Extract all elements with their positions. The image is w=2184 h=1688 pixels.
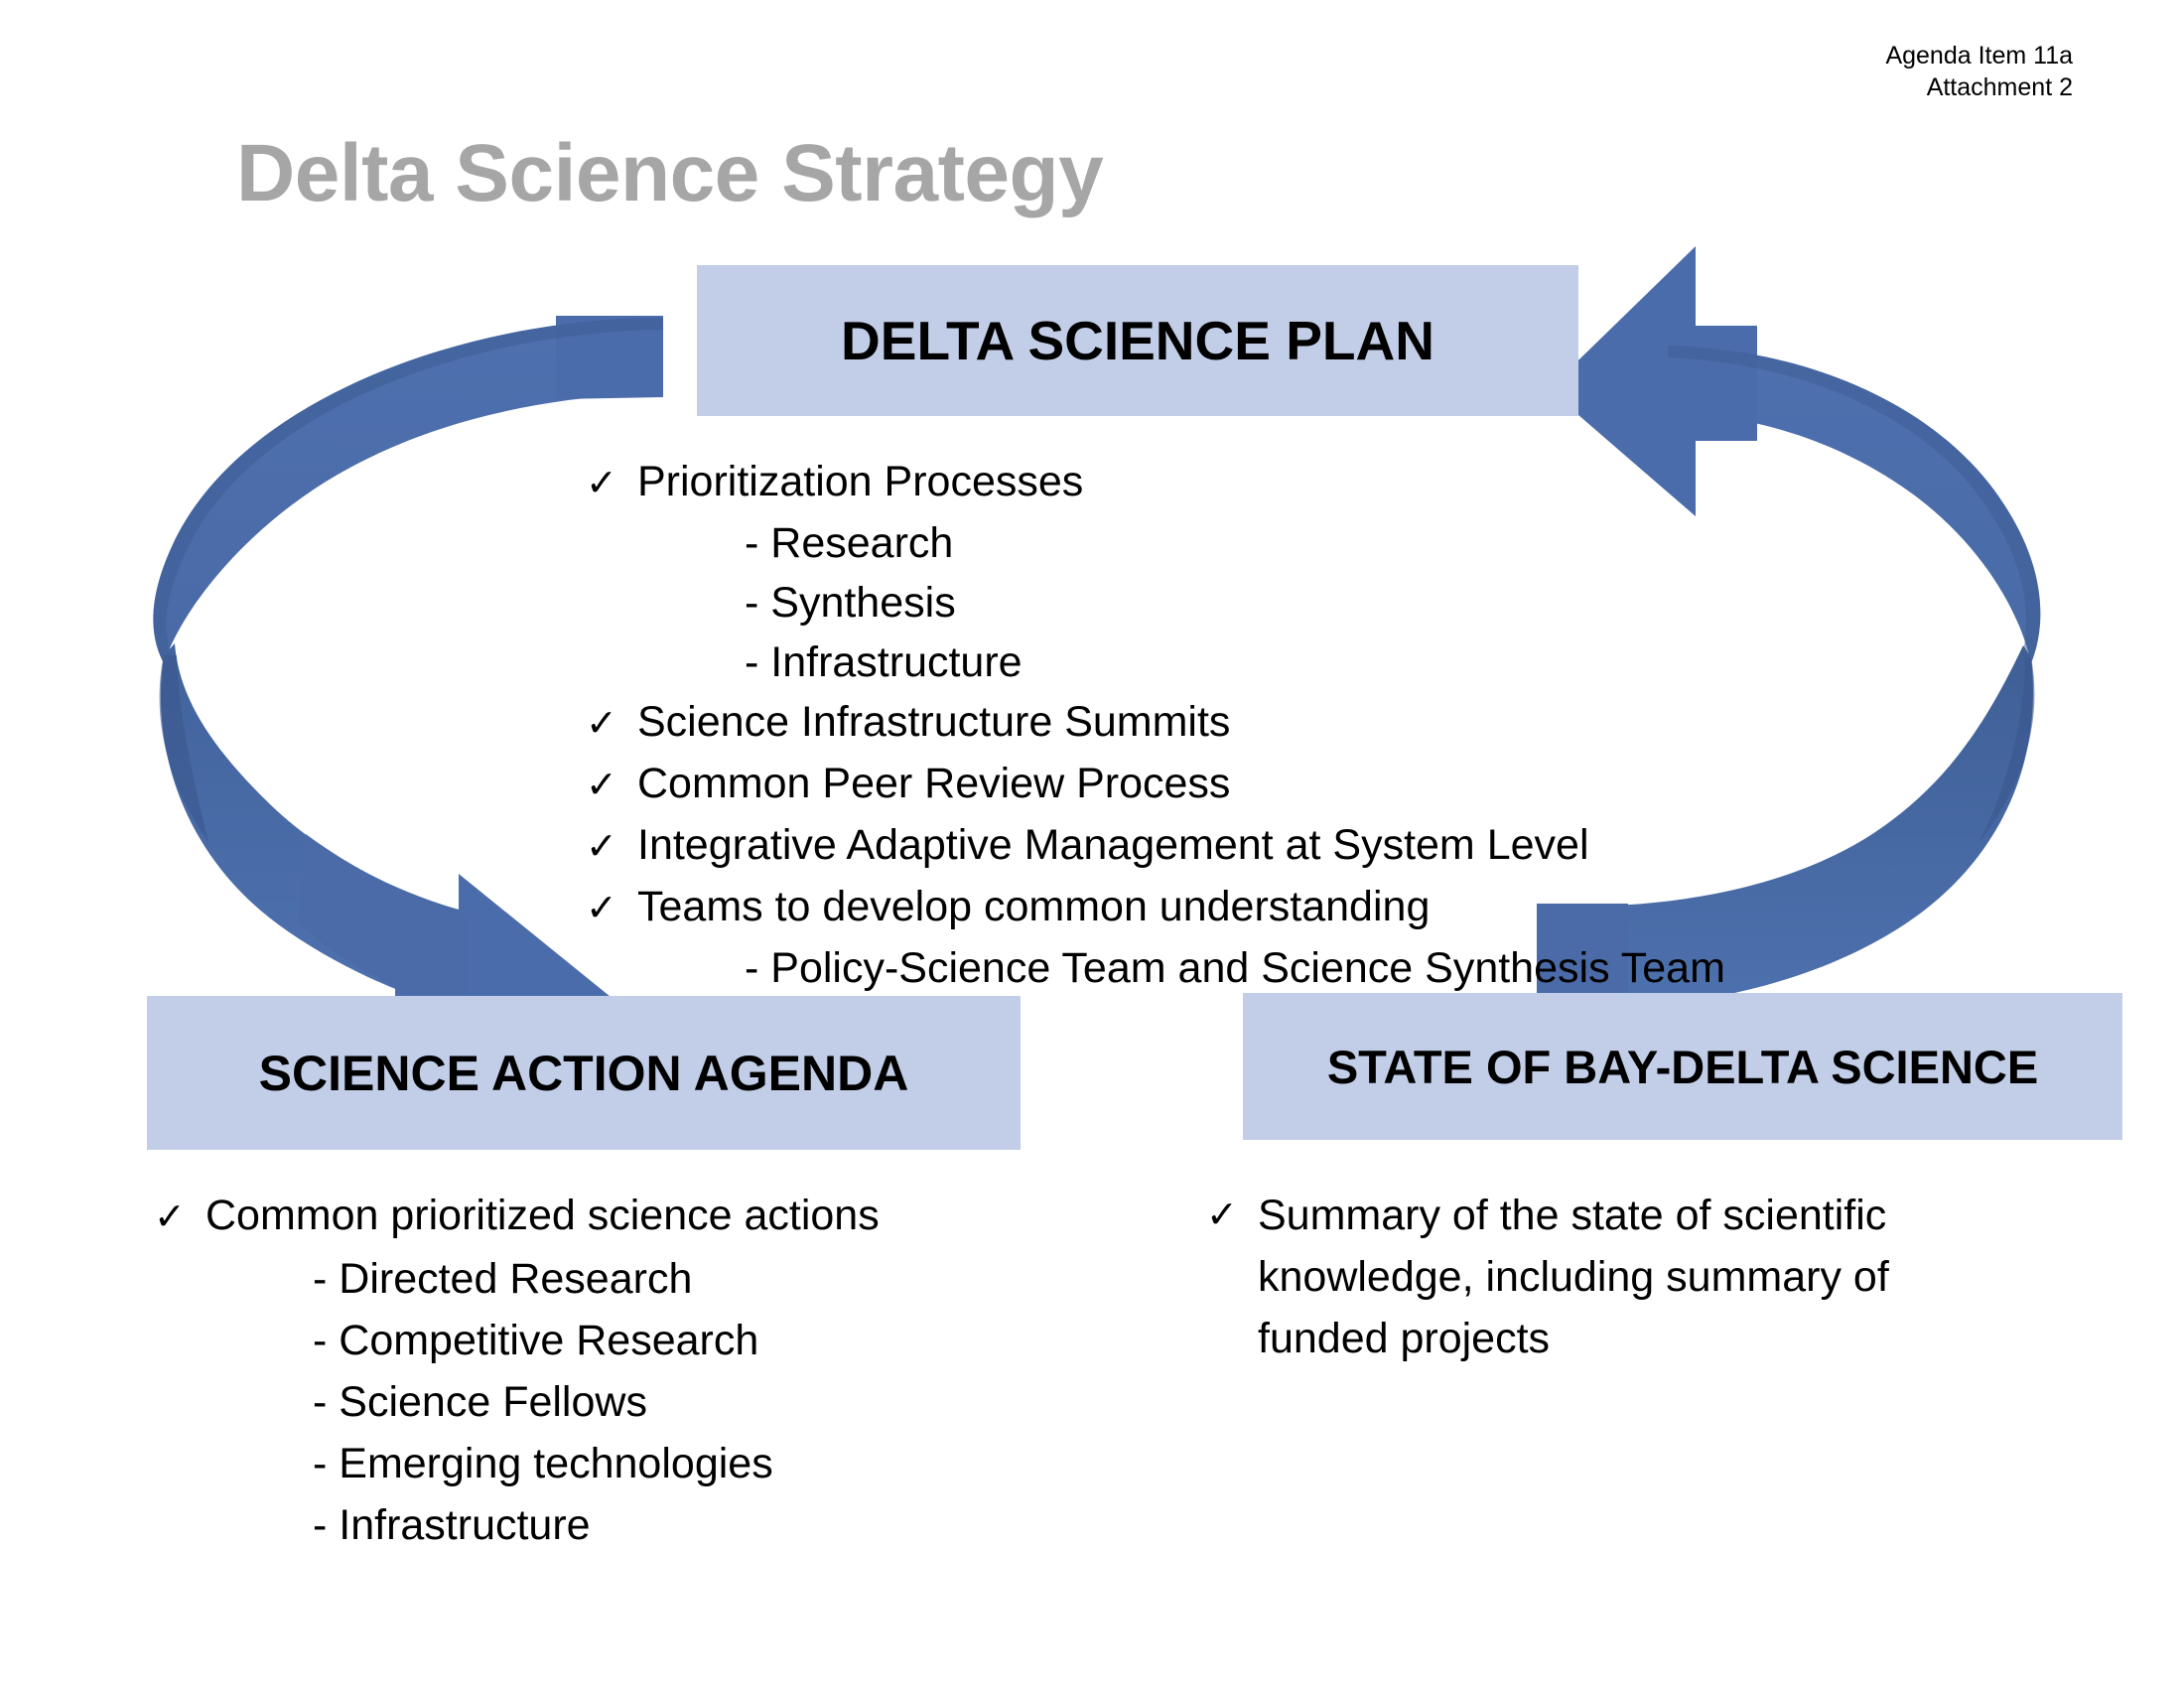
attachment-line: Attachment 2 (1885, 71, 2073, 103)
state-of-bay-delta-science-bullet-list: ✓ Summary of the state of scientific kno… (1206, 1185, 2000, 1369)
list-item: ✓ Summary of the state of scientific kno… (1206, 1185, 2000, 1369)
list-item-label: Integrative Adaptive Management at Syste… (637, 821, 1589, 869)
list-item-label: Teams to develop common understanding (637, 883, 1430, 930)
page-title: Delta Science Strategy (236, 127, 1103, 220)
list-item-label: - Infrastructure (313, 1501, 591, 1549)
check-icon: ✓ (586, 454, 637, 513)
delta-science-plan-title: DELTA SCIENCE PLAN (841, 309, 1434, 372)
list-item: - Research (586, 513, 1725, 573)
delta-science-plan-bullet-list: ✓Prioritization Processes - Research - S… (586, 452, 1725, 998)
list-item: - Policy-Science Team and Science Synthe… (586, 938, 1725, 998)
list-item: - Competitive Research (154, 1310, 880, 1371)
list-item-label: - Science Fellows (313, 1378, 647, 1426)
list-item: - Emerging technologies (154, 1433, 880, 1494)
list-item: ✓Prioritization Processes (586, 452, 1725, 513)
list-item: ✓Integrative Adaptive Management at Syst… (586, 815, 1725, 877)
slide-canvas: Agenda Item 11a Attachment 2 Delta Scien… (0, 0, 2184, 1688)
list-item-label: Science Infrastructure Summits (637, 698, 1230, 746)
list-item: ✓Common Peer Review Process (586, 754, 1725, 815)
list-item: ✓Common prioritized science actions (154, 1185, 880, 1248)
list-item-label: - Directed Research (313, 1255, 692, 1303)
check-icon: ✓ (586, 756, 637, 815)
list-item-label: - Emerging technologies (313, 1440, 773, 1487)
list-item-label: Prioritization Processes (637, 458, 1083, 505)
list-item-label: - Competitive Research (313, 1317, 758, 1364)
state-of-bay-delta-science-header: STATE OF BAY-DELTA SCIENCE (1243, 993, 2122, 1140)
list-item: - Synthesis (586, 573, 1725, 633)
check-icon: ✓ (154, 1187, 205, 1248)
science-action-agenda-bullet-list: ✓Common prioritized science actions - Di… (154, 1185, 880, 1556)
list-item: ✓Teams to develop common understanding (586, 877, 1725, 938)
list-item-label: Common Peer Review Process (637, 760, 1230, 807)
list-item-label: - Research (745, 519, 953, 567)
list-item: - Directed Research (154, 1248, 880, 1310)
check-icon: ✓ (586, 694, 637, 754)
list-item: ✓Science Infrastructure Summits (586, 692, 1725, 754)
delta-science-plan-header: DELTA SCIENCE PLAN (697, 265, 1578, 416)
science-action-agenda-title: SCIENCE ACTION AGENDA (259, 1045, 909, 1102)
agenda-item-line: Agenda Item 11a (1885, 40, 2073, 71)
list-item: - Infrastructure (154, 1494, 880, 1556)
list-item-label: Common prioritized science actions (205, 1192, 880, 1239)
list-item-label: - Policy-Science Team and Science Synthe… (745, 944, 1725, 992)
list-item-label: Summary of the state of scientific knowl… (1258, 1185, 1953, 1369)
science-action-agenda-header: SCIENCE ACTION AGENDA (147, 996, 1021, 1150)
list-item: - Infrastructure (586, 633, 1725, 692)
check-icon: ✓ (586, 879, 637, 938)
list-item-label: - Synthesis (745, 579, 956, 627)
state-of-bay-delta-science-title: STATE OF BAY-DELTA SCIENCE (1327, 1040, 2038, 1094)
check-icon: ✓ (1206, 1185, 1258, 1246)
agenda-meta: Agenda Item 11a Attachment 2 (1885, 40, 2073, 103)
check-icon: ✓ (586, 817, 637, 877)
list-item: - Science Fellows (154, 1371, 880, 1433)
list-item-label: - Infrastructure (745, 638, 1023, 686)
